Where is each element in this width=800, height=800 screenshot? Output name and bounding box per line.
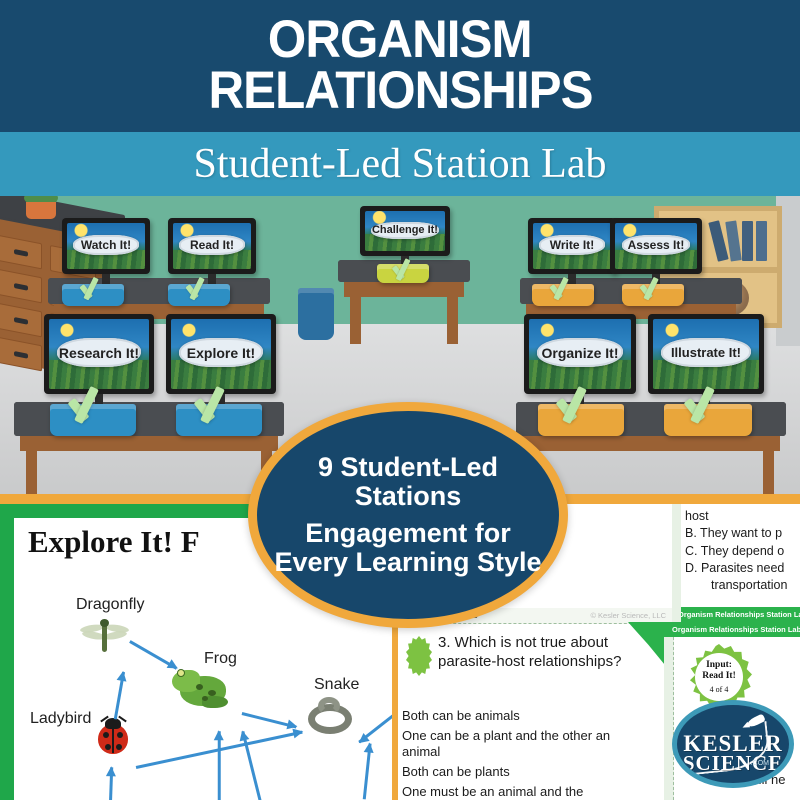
header-subtitle-band: Student-Led Station Lab bbox=[0, 132, 800, 196]
station-bin-watch-it bbox=[62, 284, 124, 306]
page-title-line1: ORGANISM bbox=[268, 15, 532, 66]
header-title-band: ORGANISM RELATIONSHIPS bbox=[0, 0, 800, 132]
station-monitor-organize-it: Organize It! bbox=[524, 314, 636, 394]
question-text: 3. Which is not true about parasite-host… bbox=[438, 634, 653, 672]
station-label-read-it: Read It! bbox=[190, 238, 234, 252]
food-web-arrow bbox=[109, 767, 113, 800]
station-monitor-challenge-it: Challenge It! bbox=[360, 206, 450, 256]
answer-line: C. They depend o bbox=[685, 543, 800, 560]
answer-choice: Both can be plants bbox=[402, 764, 632, 781]
station-label-illustrate-it: Illustrate It! bbox=[671, 345, 741, 360]
dragonfly-icon bbox=[80, 616, 136, 654]
page-title-line2: RELATIONSHIPS bbox=[208, 66, 592, 117]
station-bin-organize-it bbox=[538, 404, 624, 436]
answer-line: B. They want to p bbox=[685, 525, 800, 542]
frog-icon bbox=[172, 666, 242, 716]
organism-label-dragonfly: Dragonfly bbox=[76, 596, 144, 614]
station-bin-challenge-it bbox=[377, 264, 429, 283]
station-monitor-explore-it: Explore It! bbox=[166, 314, 276, 394]
station-monitor-illustrate-it: Illustrate It! bbox=[648, 314, 764, 394]
answer-choices: Both can be animals One can be a plant a… bbox=[402, 708, 632, 800]
answer-line: D. Parasites need bbox=[685, 560, 800, 577]
station-bin-read-it bbox=[168, 284, 230, 306]
station-bin-research-it bbox=[50, 404, 136, 436]
answer-choice: One must be an animal and the bbox=[402, 784, 632, 800]
food-web-arrow bbox=[363, 743, 371, 799]
station-label-challenge-it: Challenge It! bbox=[372, 224, 438, 236]
food-web-arrow bbox=[114, 672, 125, 720]
station-bin-assess-it bbox=[622, 284, 684, 306]
food-web-arrow bbox=[242, 712, 297, 728]
station-label-assess-it: Assess It! bbox=[628, 238, 685, 252]
station-label-watch-it: Watch It! bbox=[81, 238, 131, 252]
feature-badge-line2: Engagement for Every Learning Style bbox=[273, 519, 543, 577]
preview-card-question: onships Station Lab © Kesler Science, LL… bbox=[392, 608, 672, 800]
feature-badge: 9 Student-Led Stations Engagement for Ev… bbox=[248, 402, 568, 628]
answer-choice: Both can be animals bbox=[402, 708, 632, 725]
station-label-organize-it: Organize It! bbox=[541, 345, 618, 361]
organism-label-ladybird: Ladybird bbox=[30, 710, 91, 728]
snake-icon bbox=[308, 696, 366, 742]
page-subtitle: Student-Led Station Lab bbox=[194, 140, 607, 188]
food-web-arrow bbox=[129, 640, 177, 669]
logo-line2: SCIENCE bbox=[677, 751, 789, 776]
station-monitor-assess-it: Assess It! bbox=[610, 218, 702, 274]
station-bin-illustrate-it bbox=[664, 404, 752, 436]
ladybird-icon bbox=[96, 718, 132, 758]
answer-line: transportation bbox=[685, 577, 800, 594]
station-badge-count: 4 of 4 bbox=[710, 685, 729, 694]
preview-card-answers: host B. They want to p C. They depend o … bbox=[672, 504, 800, 622]
station-monitor-write-it: Write It! bbox=[528, 218, 616, 274]
product-cover: ORGANISM RELATIONSHIPS Student-Led Stati… bbox=[0, 0, 800, 800]
station-bin-write-it bbox=[532, 284, 594, 306]
trash-can bbox=[298, 288, 334, 340]
station-bin-explore-it bbox=[176, 404, 262, 436]
answer-line: host bbox=[685, 508, 800, 525]
station-label-research-it: Research It! bbox=[59, 345, 139, 361]
station-badge-title: Input: Read It! bbox=[695, 660, 743, 681]
station-label-write-it: Write It! bbox=[550, 238, 594, 252]
card-copyright: © Kesler Science, LLC bbox=[590, 611, 666, 620]
worksheet-title: Explore It! F bbox=[28, 524, 200, 560]
plant-pot bbox=[26, 202, 56, 219]
kesler-science-logo: KESLER SCIENCE .COM bbox=[672, 700, 794, 788]
card-footer: Organism Relationships Station Lab bbox=[672, 607, 800, 622]
organism-label-snake: Snake bbox=[314, 676, 359, 694]
feature-badge-line1: 9 Student-Led Stations bbox=[283, 453, 533, 511]
station-monitor-watch-it: Watch It! bbox=[62, 218, 150, 274]
answer-list: host B. They want to p C. They depend o … bbox=[685, 508, 800, 594]
card-header-banner: Organism Relationships Station Lab bbox=[664, 622, 800, 637]
station-monitor-research-it: Research It! bbox=[44, 314, 154, 394]
station-label-explore-it: Explore It! bbox=[187, 345, 255, 361]
starburst-icon bbox=[406, 636, 432, 676]
answer-choice: One can be a plant and the other an anim… bbox=[402, 728, 632, 761]
logo-domain: .COM bbox=[751, 760, 769, 767]
food-web-arrow bbox=[218, 731, 221, 800]
station-monitor-read-it: Read It! bbox=[168, 218, 256, 274]
